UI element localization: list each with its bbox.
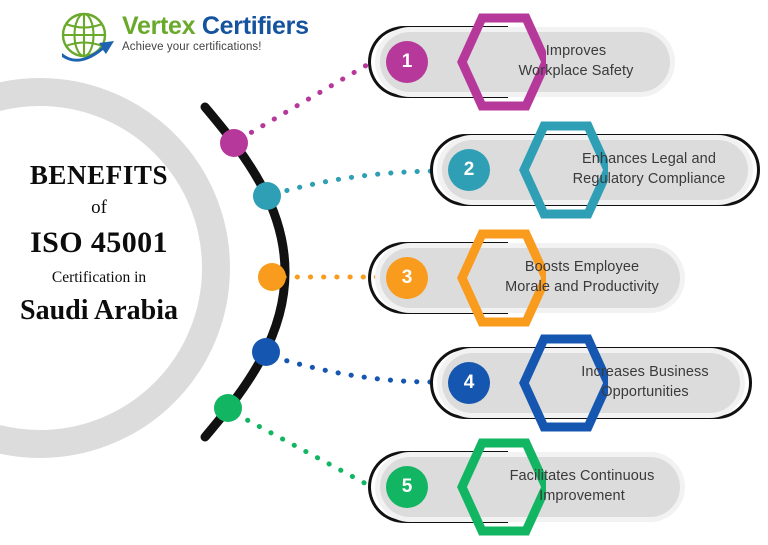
benefit-label-3: Boosts Employee Morale and Productivity <box>484 228 680 328</box>
connector-line-2 <box>274 171 434 194</box>
benefit-number-1: 1 <box>386 41 428 83</box>
benefit-number-4: 4 <box>448 362 490 404</box>
benefit-label-4-line-b: Opportunities <box>601 384 689 400</box>
benefit-number-2: 2 <box>448 149 490 191</box>
benefit-number-3: 3 <box>386 257 428 299</box>
node-dot-5 <box>214 394 242 422</box>
benefit-row-4[interactable]: 4 Increases Business Opportunities <box>430 333 752 433</box>
benefit-label-1-line-b: Workplace Safety <box>519 63 634 79</box>
benefit-row-5[interactable]: 5 Facilitates Continuous Improvement <box>368 437 680 537</box>
benefit-label-2: Enhances Legal and Regulatory Compliance <box>546 120 752 220</box>
benefit-label-5-line-b: Improvement <box>539 488 625 504</box>
benefit-label-2-line-b: Regulatory Compliance <box>573 171 726 187</box>
benefit-row-2[interactable]: 2 Enhances Legal and Regulatory Complian… <box>430 120 760 220</box>
benefit-label-4-line-a: Increases Business <box>581 364 709 380</box>
benefit-label-5-line-a: Facilitates Continuous <box>510 468 655 484</box>
benefit-number-5: 5 <box>386 466 428 508</box>
node-dot-4 <box>252 338 280 366</box>
node-dot-3 <box>258 263 286 291</box>
connector-line-1 <box>240 62 372 139</box>
benefit-row-3[interactable]: 3 Boosts Employee Morale and Productivit… <box>368 228 680 328</box>
benefit-label-1-line-a: Improves <box>546 43 606 59</box>
connector-line-4 <box>274 357 434 382</box>
node-dot-2 <box>253 182 281 210</box>
infographic-canvas: Vertex Certifiers Achieve your certifica… <box>0 0 768 545</box>
connector-line-5 <box>236 414 372 487</box>
benefit-label-1: Improves Workplace Safety <box>484 12 668 112</box>
benefit-row-1[interactable]: 1 Improves Workplace Safety <box>368 12 668 112</box>
node-dot-1 <box>220 129 248 157</box>
benefit-label-5: Facilitates Continuous Improvement <box>484 437 680 537</box>
benefit-label-2-line-a: Enhances Legal and <box>582 151 716 167</box>
benefit-label-3-line-b: Morale and Productivity <box>505 279 659 295</box>
benefit-label-3-line-a: Boosts Employee <box>525 259 639 275</box>
benefit-label-4: Increases Business Opportunities <box>546 333 744 433</box>
